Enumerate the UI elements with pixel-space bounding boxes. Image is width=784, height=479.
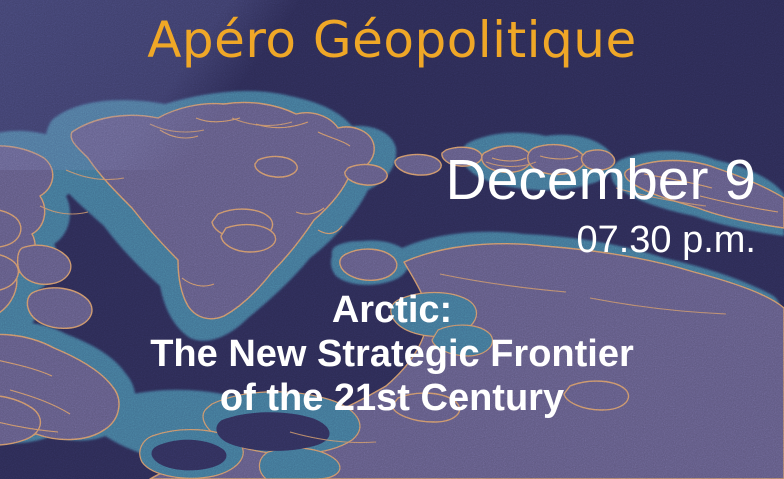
headline-line-2: The New Strategic Frontier [0,332,784,376]
headline-line-3: of the 21st Century [0,376,784,420]
headline-line-1: Arctic: [0,288,784,332]
event-date: December 9 [446,152,756,209]
event-time: 07.30 p.m. [446,221,756,259]
event-headline: Arctic: The New Strategic Frontier of th… [0,288,784,420]
series-title: Apéro Géopolitique [0,14,784,67]
event-poster: Apéro Géopolitique December 9 07.30 p.m.… [0,0,784,479]
event-datetime-block: December 9 07.30 p.m. [446,152,756,259]
